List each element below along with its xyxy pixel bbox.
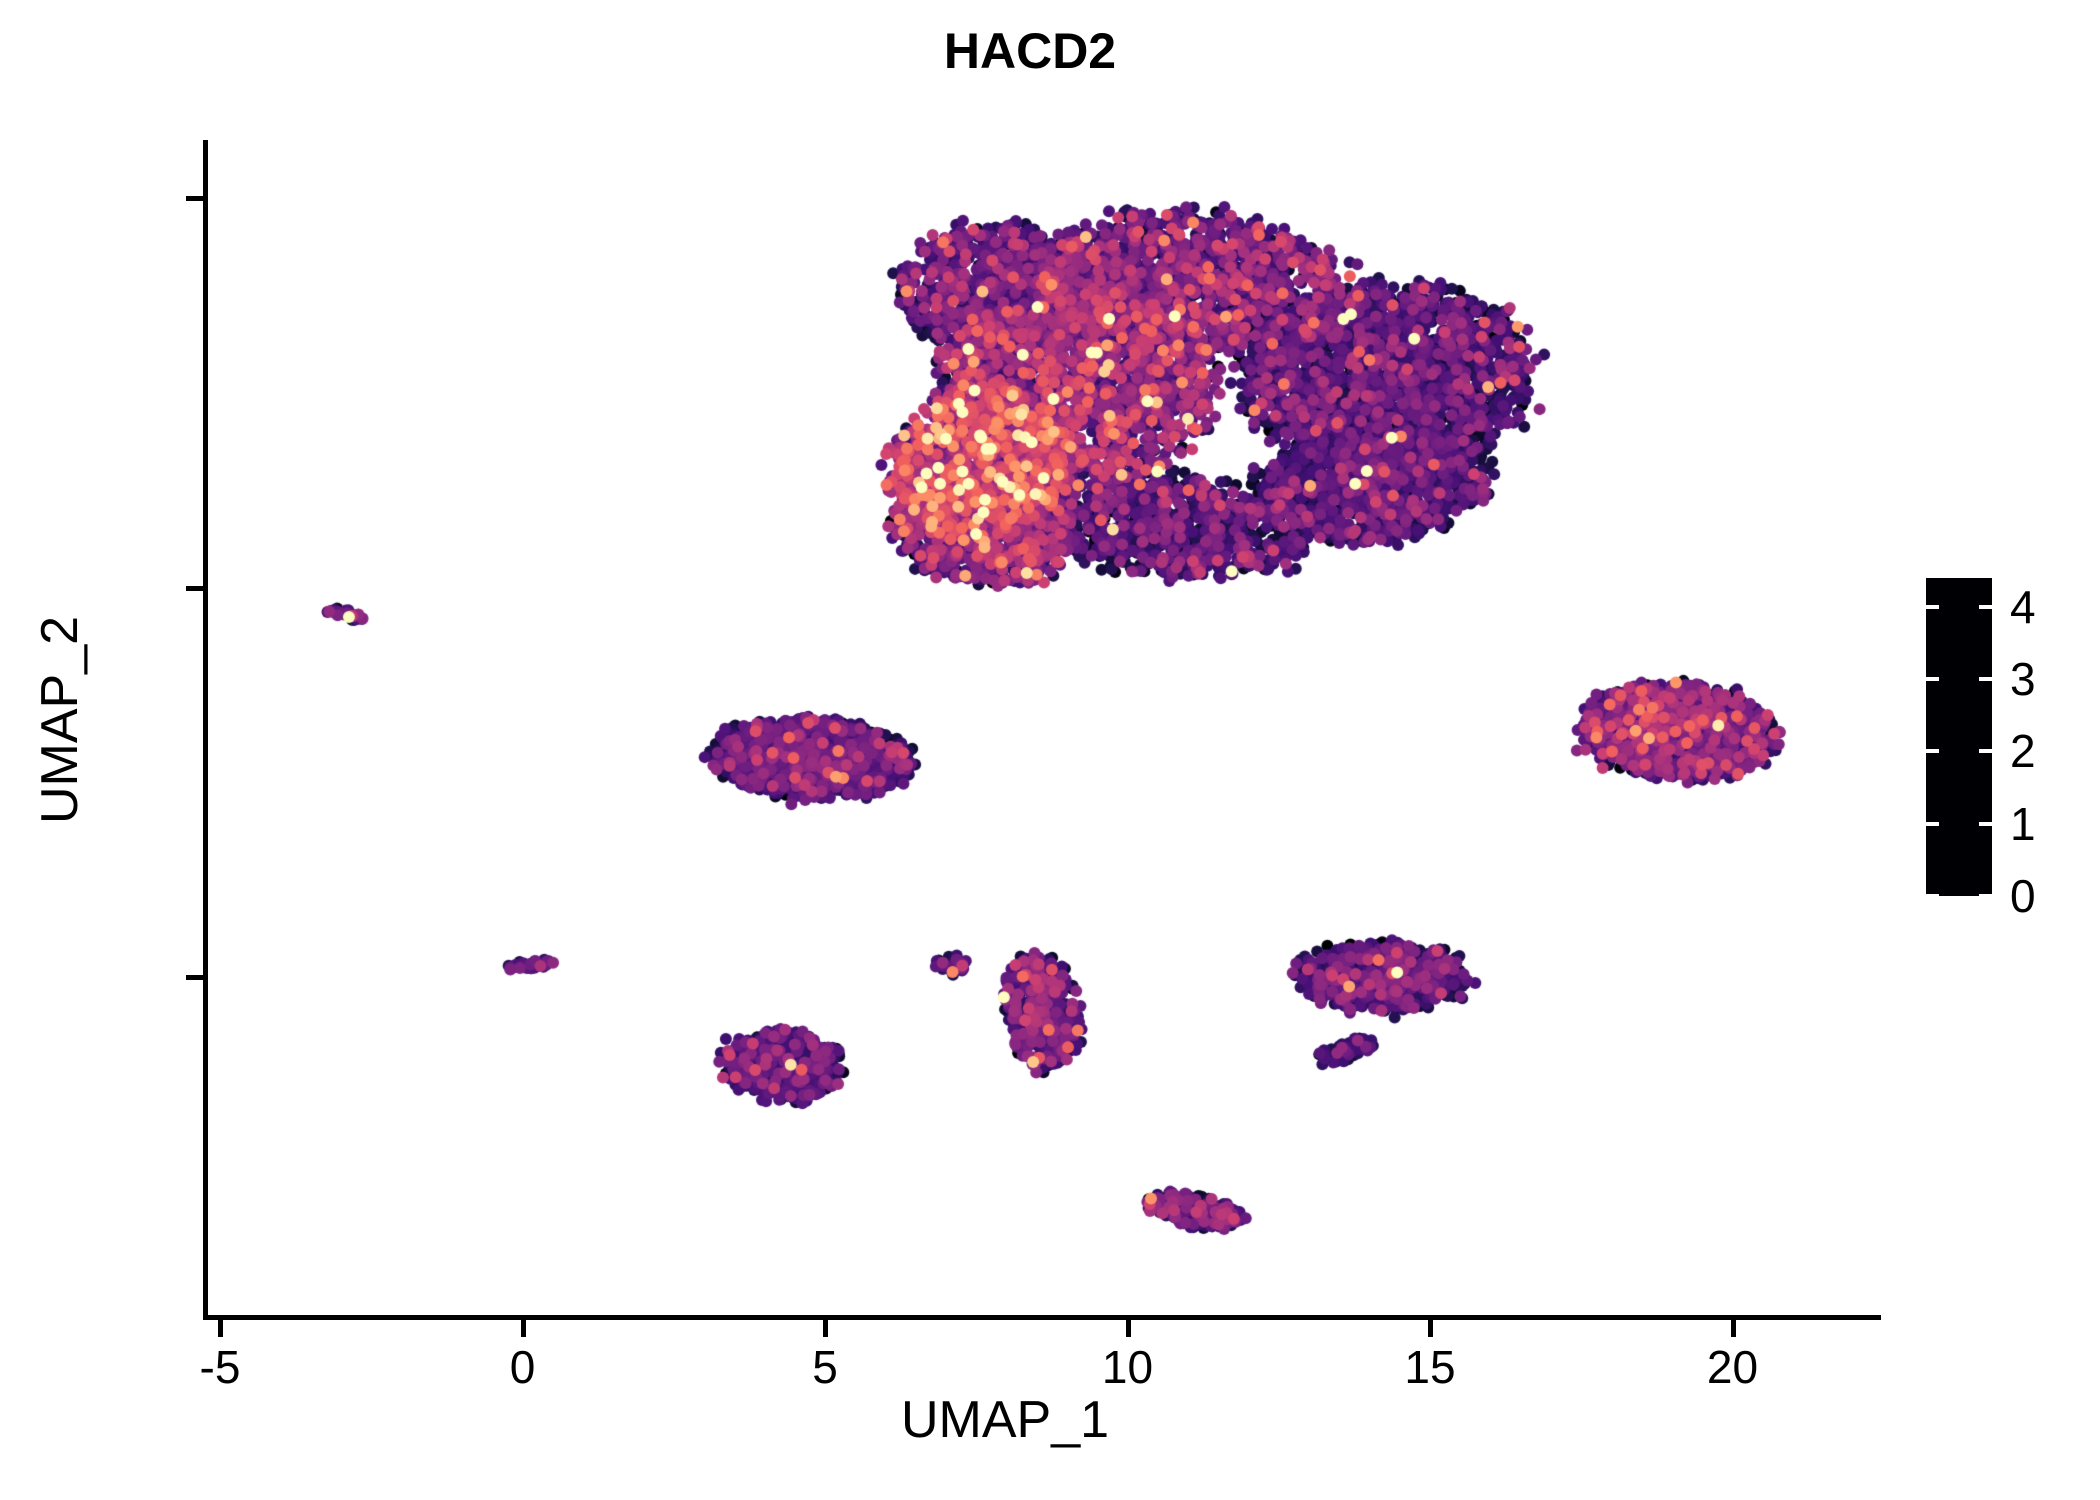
x-tick-mark bbox=[823, 1320, 828, 1337]
x-tick-mark bbox=[1428, 1320, 1433, 1337]
x-tick-mark bbox=[1126, 1320, 1131, 1337]
colorbar-tick-mark bbox=[1926, 822, 1939, 826]
colorbar-tick-label: 3 bbox=[2010, 652, 2036, 706]
x-tick-mark bbox=[1731, 1320, 1736, 1337]
colorbar-tick-mark bbox=[1926, 894, 1939, 898]
y-tick-mark bbox=[186, 975, 203, 980]
scatter-canvas bbox=[0, 0, 2100, 1500]
x-tick-label: 5 bbox=[812, 1340, 838, 1394]
colorbar-tick-mark bbox=[1979, 605, 1992, 609]
colorbar bbox=[1926, 578, 1992, 896]
y-tick-mark bbox=[186, 196, 203, 201]
colorbar-tick-label: 4 bbox=[2010, 580, 2036, 634]
umap-feature-plot: HACD2 -50510152001020 UMAP_1 UMAP_2 0123… bbox=[0, 0, 2100, 1500]
x-tick-label: 10 bbox=[1102, 1340, 1153, 1394]
colorbar-tick-mark bbox=[1979, 894, 1992, 898]
y-tick-mark bbox=[186, 586, 203, 591]
colorbar-tick-mark bbox=[1926, 605, 1939, 609]
x-tick-label: -5 bbox=[200, 1340, 241, 1394]
colorbar-tick-mark bbox=[1926, 677, 1939, 681]
x-tick-label: 0 bbox=[510, 1340, 536, 1394]
y-axis-label: UMAP_2 bbox=[30, 370, 90, 1070]
colorbar-tick-mark bbox=[1979, 749, 1992, 753]
x-tick-mark bbox=[218, 1320, 223, 1337]
colorbar-tick-label: 0 bbox=[2010, 869, 2036, 923]
x-tick-mark bbox=[521, 1320, 526, 1337]
y-axis-line bbox=[203, 140, 208, 1320]
colorbar-tick-label: 2 bbox=[2010, 724, 2036, 778]
colorbar-gradient bbox=[1926, 578, 1992, 896]
x-axis-label: UMAP_1 bbox=[0, 1390, 2010, 1450]
colorbar-tick-label: 1 bbox=[2010, 797, 2036, 851]
colorbar-tick-mark bbox=[1926, 749, 1939, 753]
colorbar-tick-mark bbox=[1979, 677, 1992, 681]
x-axis-line bbox=[203, 1315, 1881, 1320]
x-tick-label: 20 bbox=[1707, 1340, 1758, 1394]
x-tick-label: 15 bbox=[1404, 1340, 1455, 1394]
colorbar-tick-mark bbox=[1979, 822, 1992, 826]
